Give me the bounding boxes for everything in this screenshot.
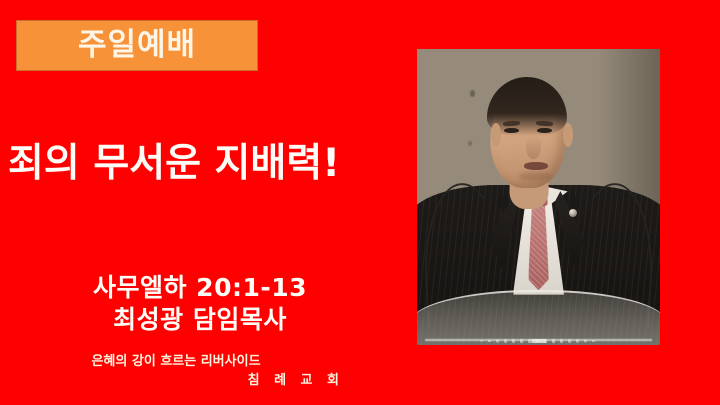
pulpit <box>417 290 660 345</box>
church-name: 은혜의 강이 흐르는 리버사이드 침 례 교 회 <box>0 353 352 391</box>
eye-left <box>504 128 519 133</box>
sermon-slide: 주일예배 죄의 무서운 지배력! 사무엘하 20:1-13 최성광 담임목사 은… <box>0 0 720 405</box>
lapel-pin-icon <box>569 209 577 217</box>
chin-shadow <box>519 172 553 181</box>
service-type-banner: 주일예배 <box>16 20 258 71</box>
nose <box>526 135 541 159</box>
ear-right <box>563 123 573 147</box>
photo-content <box>417 49 660 345</box>
eyebrow-left <box>503 120 520 126</box>
church-tagline: 은혜의 강이 흐르는 리버사이드 <box>0 353 352 372</box>
mouth <box>524 162 548 170</box>
eyebrow-right <box>536 120 553 126</box>
sermon-details: 사무엘하 20:1-13 최성광 담임목사 <box>0 272 400 336</box>
pulpit-base <box>417 343 660 345</box>
wall-mark-lower <box>468 141 472 146</box>
preacher-photo <box>417 49 660 345</box>
sermon-title: 죄의 무서운 지배력! <box>8 143 408 186</box>
scripture-reference: 사무엘하 20:1-13 <box>0 272 400 304</box>
speaker-name: 최성광 담임목사 <box>0 304 400 336</box>
microphone-head-right <box>568 197 580 209</box>
eye-right <box>537 128 552 133</box>
service-type-label: 주일예배 <box>78 30 196 61</box>
church-name-line: 침 례 교 회 <box>0 372 352 391</box>
ear-left <box>491 123 501 147</box>
